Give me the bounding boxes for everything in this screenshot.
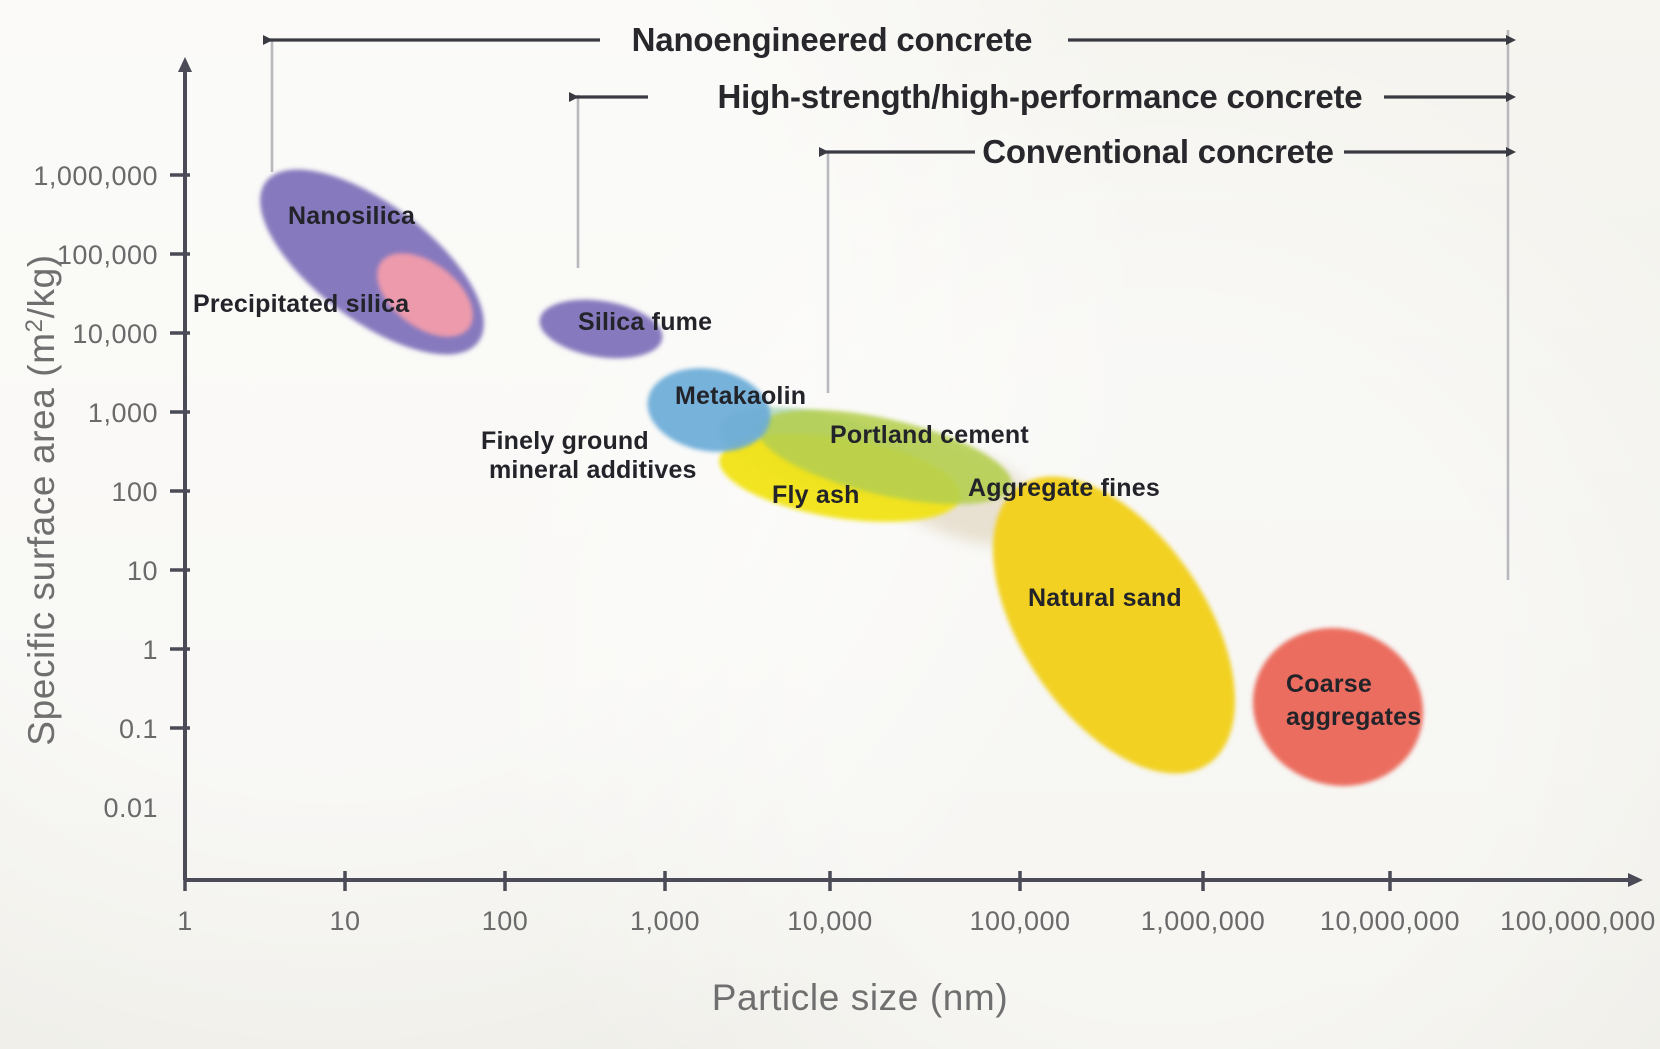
annotation-high-strength: High-strength/high-performance concrete: [569, 78, 1506, 115]
y-axis-title-superscript: 2: [21, 318, 48, 332]
x-tick-group: 100,000,000: [1500, 906, 1656, 936]
annotation-nanoengineered: Nanoengineered concrete: [263, 21, 1506, 58]
y-tick-label: 0.01: [103, 793, 158, 823]
y-tick-group: 100,000: [57, 240, 190, 270]
annotation-label-conventional: Conventional concrete: [982, 133, 1334, 170]
x-tick-label: 100: [482, 906, 529, 936]
blob-nanosilica: [231, 136, 513, 389]
y-tick-group: 100: [111, 477, 190, 507]
x-tick-label: 100,000,000: [1500, 906, 1656, 936]
y-axis-title-group: Specific surface area (m2/kg): [21, 254, 62, 745]
y-tick-group: 0.01: [103, 793, 158, 823]
x-tick-label: 1,000: [630, 906, 700, 936]
blob-label-nanosilica: Nanosilica: [288, 202, 416, 230]
blob-label-silica-fume: Silica fume: [578, 308, 712, 336]
blob-label-finely-ground-line1: Finely ground: [481, 427, 649, 455]
y-tick-label: 1,000,000: [33, 161, 158, 191]
y-tick-group: 10: [127, 556, 190, 586]
blob-label-metakaolin: Metakaolin: [675, 382, 806, 410]
blob-label-coarse-line1: Coarse: [1286, 670, 1372, 698]
y-tick-label: 0.1: [119, 714, 158, 744]
x-tick-label: 1: [177, 906, 193, 936]
blob-label-coarse-line2: aggregates: [1286, 703, 1421, 731]
x-tick-label: 10: [329, 906, 360, 936]
material-blobs: [231, 136, 1446, 816]
particle-size-vs-surface-area-chart: Nanoengineered concrete High-strength/hi…: [0, 0, 1660, 1049]
y-tick-group: 1,000: [88, 398, 190, 428]
blob-label-fly-ash: Fly ash: [772, 481, 860, 509]
y-tick-group: 10,000: [72, 319, 190, 349]
y-tick-label: 100: [111, 477, 158, 507]
y-axis-title-main: Specific surface area (m: [21, 332, 62, 745]
y-tick-label: 1,000: [88, 398, 158, 428]
blob-label-natural-sand: Natural sand: [1028, 584, 1182, 612]
x-tick-label: 10,000,000: [1320, 906, 1460, 936]
y-tick-group: 1,000,000: [33, 161, 190, 191]
x-tick-label: 10,000: [787, 906, 873, 936]
y-tick-label: 10,000: [72, 319, 158, 349]
y-axis-title: Specific surface area (m2/kg): [21, 254, 62, 745]
y-tick-label: 10: [127, 556, 158, 586]
blob-label-aggregate-fines: Aggregate fines: [968, 474, 1160, 502]
annotation-label-high-strength: High-strength/high-performance concrete: [718, 78, 1363, 115]
blob-label-portland-cement: Portland cement: [830, 421, 1029, 449]
blob-label-finely-ground-line2: mineral additives: [489, 456, 697, 484]
annotation-conventional: Conventional concrete: [819, 133, 1506, 170]
x-axis-title: Particle size (nm): [712, 977, 1009, 1018]
y-tick-label: 100,000: [57, 240, 158, 270]
x-tick-label: 100,000: [969, 906, 1070, 936]
x-tick-label: 1,000,000: [1141, 906, 1266, 936]
annotation-label-nanoengineered: Nanoengineered concrete: [632, 21, 1033, 58]
y-tick-group: 1: [142, 635, 190, 665]
y-tick-group: 0.1: [119, 714, 190, 744]
chart-canvas: Nanoengineered concrete High-strength/hi…: [0, 0, 1660, 1049]
y-tick-label: 1: [142, 635, 158, 665]
blob-label-precipitated-silica: Precipitated silica: [193, 290, 410, 318]
